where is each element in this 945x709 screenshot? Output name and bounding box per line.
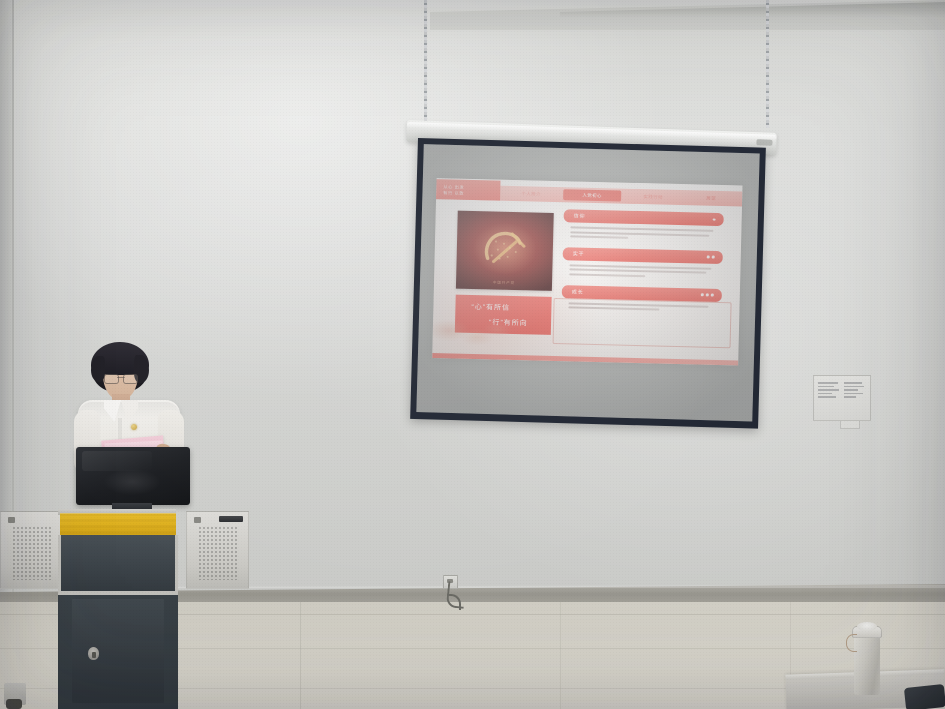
panel-2-heading: 实干 xyxy=(563,250,585,258)
panel-1-body xyxy=(563,222,723,246)
slide-title-line-2: 有行 以致 xyxy=(443,190,500,196)
presentation-slide: 从心 出发 有行 以致 个人简介 入党初心 实践行动 展望 xyxy=(432,178,742,365)
thermos-handle xyxy=(846,634,857,652)
panel-1-heading: 信仰 xyxy=(564,212,586,220)
right-panel-knob xyxy=(194,517,201,523)
lectern xyxy=(0,447,255,709)
slide-title-block: 从心 出发 有行 以致 xyxy=(436,179,500,201)
panel-3-dots xyxy=(701,293,714,296)
slide-nav-tab-4: 展望 xyxy=(682,190,740,206)
notice-column-right xyxy=(844,380,867,416)
screen-chain-right xyxy=(766,0,769,128)
thermos-bottle xyxy=(854,629,880,695)
casing-end-cap xyxy=(756,139,772,146)
right-panel-display-strip xyxy=(219,516,243,522)
right-speaker-grille xyxy=(198,526,238,580)
notice-column-left xyxy=(818,380,841,416)
thermos-cap xyxy=(857,622,877,631)
podium-monitor xyxy=(76,447,190,505)
hammer-sickle-icon xyxy=(477,225,532,270)
notice-lower-tab xyxy=(840,420,860,429)
panel-1-dots xyxy=(713,218,716,221)
lectern-castor xyxy=(6,699,22,709)
slide-nav-tab-3: 实践行动 xyxy=(624,189,682,205)
dark-object-on-table xyxy=(904,684,945,709)
projection-screen-surface: 从心 出发 有行 以致 个人简介 入党初心 实践行动 展望 xyxy=(416,144,759,421)
slide-nav-tabs: 个人简介 入党初心 实践行动 展望 xyxy=(502,186,740,207)
monitor-reflection xyxy=(104,469,160,495)
monitor-glare xyxy=(82,451,152,471)
wall-notice-sheet xyxy=(813,375,871,421)
slide-panel-1: 信仰 xyxy=(563,209,724,246)
lapel-badge xyxy=(131,424,137,430)
presenter-hair-left xyxy=(91,356,105,382)
panel-3-heading: 成长 xyxy=(562,288,584,296)
glasses-lens-left xyxy=(104,374,119,384)
projection-screen-frame: 从心 出发 有行 以致 个人简介 入党初心 实践行动 展望 xyxy=(410,138,766,429)
emblem-caption: 中国共产党 xyxy=(456,279,552,286)
right-speaker-panel xyxy=(186,511,249,589)
lectern-upper-body xyxy=(58,535,178,591)
screen-chain-left xyxy=(424,0,427,128)
slide-content-panels: 信仰 xyxy=(561,209,724,322)
lectern-cabinet-door xyxy=(72,599,164,703)
glasses-lens-right xyxy=(123,374,138,384)
glasses-icon xyxy=(104,374,138,382)
panel-2-body xyxy=(562,260,722,284)
communist-party-emblem: 中国共产党 xyxy=(456,211,554,291)
slide-nav-tab-2: 入党初心 xyxy=(563,189,621,201)
slide-panel-3: 成长 xyxy=(561,285,722,317)
left-speaker-panel xyxy=(0,511,63,589)
cabinet-lock xyxy=(88,647,99,660)
slide-nav-tab-1: 个人简介 xyxy=(502,186,560,202)
slide-watercolor-decoration xyxy=(433,304,526,346)
slide-panel-2: 实干 xyxy=(562,247,723,284)
left-panel-knob xyxy=(8,517,15,523)
panel-2-dots xyxy=(707,256,715,259)
slide-body: 中国共产党 “心”有所信 “行”有所向 信仰 xyxy=(432,202,742,357)
classroom-photo: 从心 出发 有行 以致 个人简介 入党初心 实践行动 展望 xyxy=(0,0,945,709)
left-speaker-grille xyxy=(12,526,52,580)
